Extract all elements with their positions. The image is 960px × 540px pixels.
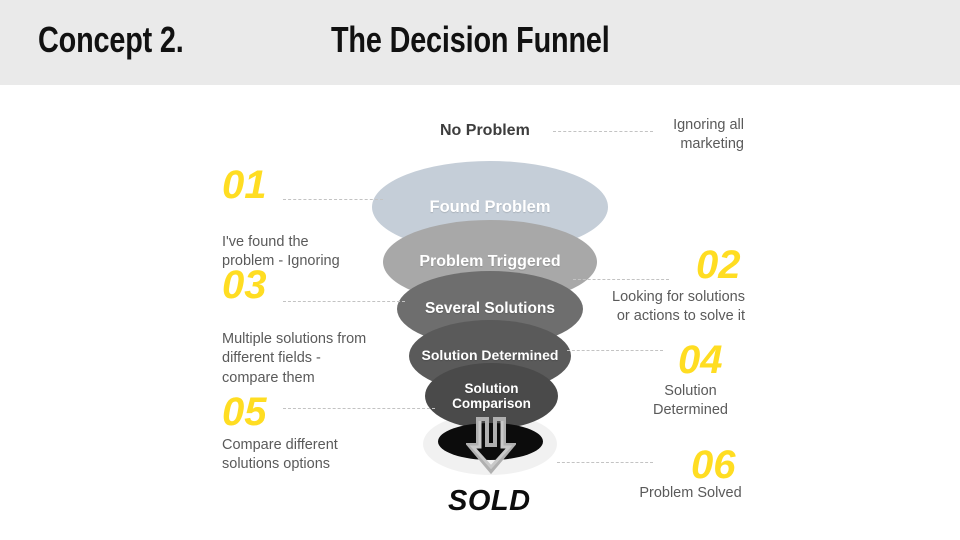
step-number-06: 06 — [691, 445, 736, 485]
connector-dash-01 — [283, 199, 383, 200]
step-text-06: Problem Solved — [608, 484, 773, 503]
step-number-04: 04 — [678, 340, 723, 380]
connector-dash-04 — [567, 350, 663, 351]
step-number-01: 01 — [222, 165, 267, 205]
page-title-concept: Concept 2. — [38, 19, 184, 61]
step-text-05: Compare different solutions options — [222, 436, 422, 475]
connector-dash-05 — [283, 408, 435, 409]
step-text-04: Solution Determined — [608, 382, 773, 421]
funnel-layer-label: Several Solutions — [425, 300, 555, 317]
slide-canvas: Concept 2. The Decision Funnel No Proble… — [0, 0, 960, 540]
step-text-ignoring-all-marketing: Ignoring all marketing — [603, 116, 744, 155]
funnel-diagram: No Problem Found Problem Problem Trigger… — [0, 85, 960, 540]
double-down-arrow-icon — [466, 417, 516, 475]
funnel-top-caption: No Problem — [440, 122, 530, 140]
funnel-layer-label: Solution Determined — [422, 348, 559, 364]
step-text-03: Multiple solutions from different fields… — [222, 330, 432, 388]
funnel-layer-label: Found Problem — [430, 198, 551, 216]
connector-dash-03 — [283, 301, 405, 302]
funnel-bottom-caption: SOLD — [448, 485, 531, 518]
page-title-subject: The Decision Funnel — [331, 19, 610, 61]
funnel-layer-label: Solution Comparison — [425, 381, 558, 411]
step-number-05: 05 — [222, 392, 267, 432]
step-text-02: Looking for solutions or actions to solv… — [565, 288, 745, 327]
step-number-03: 03 — [222, 265, 267, 305]
connector-dash-02 — [573, 279, 669, 280]
step-number-02: 02 — [696, 245, 741, 285]
connector-dash-06 — [557, 462, 653, 463]
funnel-layer-label: Problem Triggered — [419, 253, 560, 271]
